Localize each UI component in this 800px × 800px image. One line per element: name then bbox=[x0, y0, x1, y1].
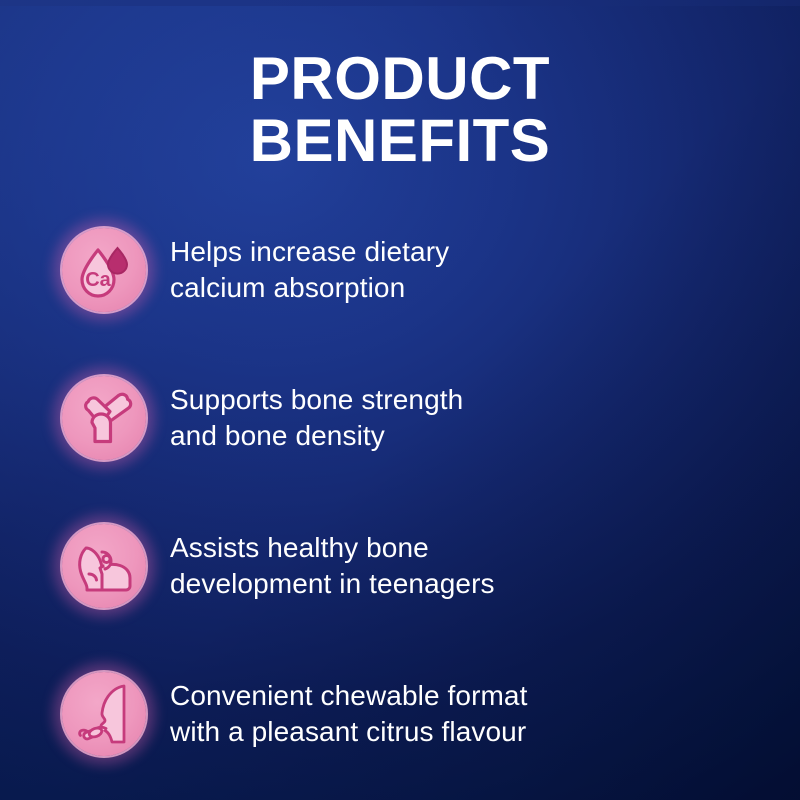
benefit-text-1-line-2: calcium absorption bbox=[170, 270, 449, 306]
benefit-item-4: Convenient chewable format with a pleasa… bbox=[0, 640, 800, 788]
benefit-text-3-line-1: Assists healthy bone bbox=[170, 530, 495, 566]
benefit-text-3: Assists healthy bone development in teen… bbox=[170, 530, 495, 603]
page-title-line-2: BENEFITS bbox=[0, 110, 800, 172]
benefit-text-4-line-1: Convenient chewable format bbox=[170, 678, 527, 714]
benefit-item-2: Supports bone strength and bone density bbox=[0, 344, 800, 492]
benefits-list: Ca Helps increase dietary calcium absorp… bbox=[0, 196, 800, 788]
benefit-text-4-line-2: with a pleasant citrus flavour bbox=[170, 714, 527, 750]
benefit-text-2: Supports bone strength and bone density bbox=[170, 382, 463, 455]
benefit-icon-4-wrap bbox=[62, 672, 146, 756]
calcium-symbol-text: Ca bbox=[85, 269, 111, 291]
benefit-text-1-line-1: Helps increase dietary bbox=[170, 234, 449, 270]
benefit-item-1: Ca Helps increase dietary calcium absorp… bbox=[0, 196, 800, 344]
benefit-text-2-line-1: Supports bone strength bbox=[170, 382, 463, 418]
benefit-text-3-line-2: development in teenagers bbox=[170, 566, 495, 602]
benefit-text-2-line-2: and bone density bbox=[170, 418, 463, 454]
flexed-bicep-icon bbox=[62, 524, 146, 608]
page-title: PRODUCT BENEFITS bbox=[0, 48, 800, 172]
calcium-droplet-icon: Ca bbox=[62, 228, 146, 312]
chewable-tablet-face-icon bbox=[62, 672, 146, 756]
page-title-line-1: PRODUCT bbox=[0, 48, 800, 110]
benefit-icon-3-wrap bbox=[62, 524, 146, 608]
benefit-icon-1-wrap: Ca bbox=[62, 228, 146, 312]
bone-joint-icon bbox=[62, 376, 146, 460]
benefit-icon-2-wrap bbox=[62, 376, 146, 460]
benefit-text-1: Helps increase dietary calcium absorptio… bbox=[170, 234, 449, 307]
benefit-text-4: Convenient chewable format with a pleasa… bbox=[170, 678, 527, 751]
product-benefits-graphic: PRODUCT BENEFITS Ca Helps increase dieta… bbox=[0, 0, 800, 800]
benefit-item-3: Assists healthy bone development in teen… bbox=[0, 492, 800, 640]
